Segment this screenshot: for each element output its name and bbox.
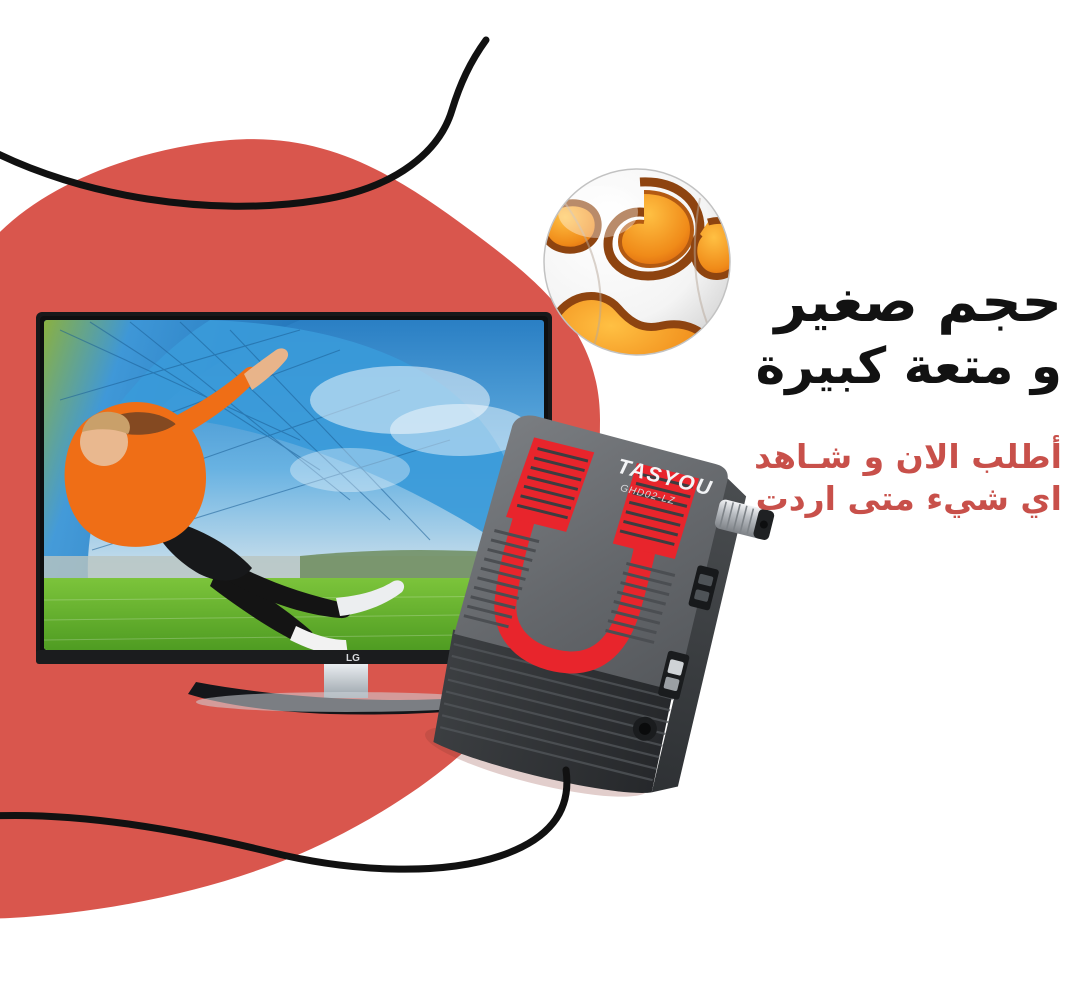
headline-line-2: و متعة كبيرة	[682, 341, 1062, 392]
subtext-block: أطلب الان و شـاهد اي شيء متى اردت	[682, 436, 1062, 520]
subtext-line-2: اي شيء متى اردت	[682, 478, 1062, 520]
promo-poster: LG	[0, 0, 1080, 988]
headline-line-1: حجم صغير	[682, 274, 1062, 331]
subtext-line-1: أطلب الان و شـاهد	[682, 436, 1062, 478]
copy-block: حجم صغير و متعة كبيرة أطلب الان و شـاهد …	[682, 274, 1062, 521]
